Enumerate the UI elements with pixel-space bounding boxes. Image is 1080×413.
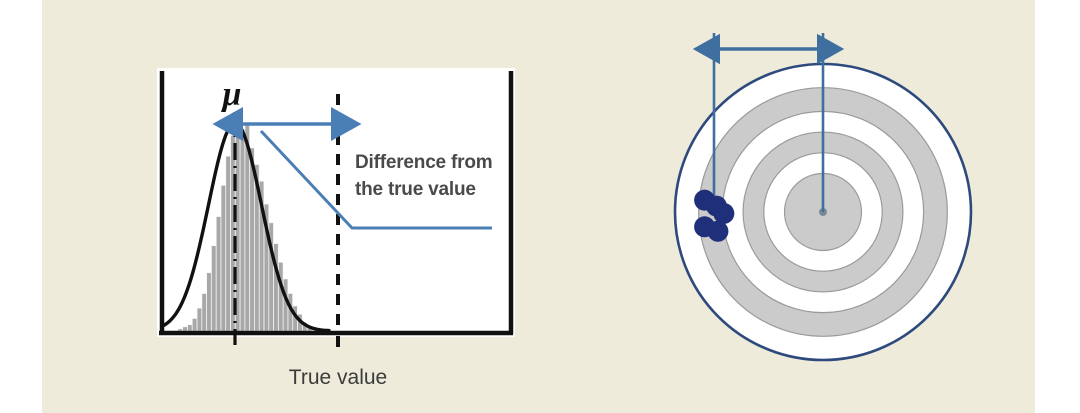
difference-label-line2: the true value <box>355 179 476 200</box>
shot-marker <box>713 203 734 224</box>
histogram-bar <box>212 246 217 331</box>
target-panel <box>675 33 971 360</box>
histogram-bar <box>226 156 231 331</box>
histogram-bar <box>183 327 188 331</box>
histogram-bar <box>207 273 212 331</box>
figure-root: μ Difference from the true value True va… <box>0 0 1080 413</box>
shot-marker <box>707 221 728 242</box>
histogram-bar <box>192 319 197 331</box>
histogram-bar <box>240 129 245 331</box>
mu-symbol: μ <box>221 76 242 113</box>
figure-canvas: μ Difference from the true value True va… <box>0 0 1080 413</box>
true-value-caption: True value <box>289 366 387 389</box>
histogram-bar <box>279 262 284 331</box>
histogram-bar <box>216 217 221 331</box>
distribution-panel: μ Difference from the true value True va… <box>157 68 515 389</box>
histogram-bar <box>202 294 207 331</box>
histogram-bar <box>283 279 288 331</box>
difference-label-line1: Difference from <box>355 152 492 173</box>
histogram-bar <box>221 185 226 331</box>
histogram-bar <box>197 308 202 331</box>
histogram-bar <box>188 325 193 331</box>
histogram-bar <box>178 329 183 331</box>
